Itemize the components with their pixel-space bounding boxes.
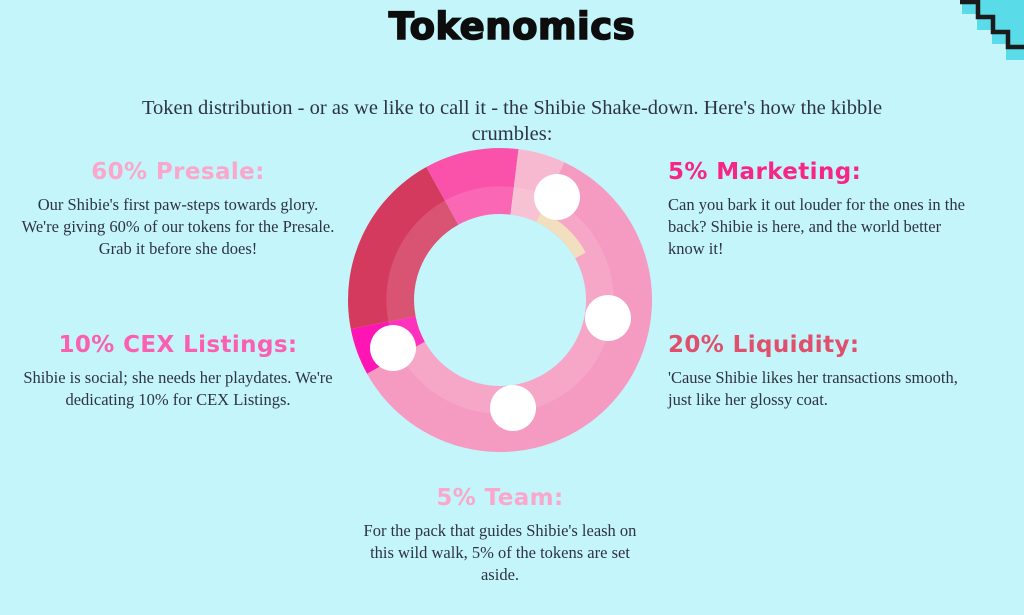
page-title: Tokenomics <box>0 8 1024 45</box>
donut-node-marker <box>370 325 416 371</box>
legend-body-cex-listings: Shibie is social; she needs her playdate… <box>18 367 338 411</box>
legend-body-liquidity: 'Cause Shibie likes her transactions smo… <box>668 367 968 411</box>
legend-item-marketing: 5% Marketing: Can you bark it out louder… <box>668 160 968 260</box>
legend-heading-liquidity: 20% Liquidity: <box>668 333 968 357</box>
donut-node-marker <box>585 295 631 341</box>
legend-item-cex-listings: 10% CEX Listings: Shibie is social; she … <box>18 333 338 411</box>
legend-body-marketing: Can you bark it out louder for the ones … <box>668 194 968 260</box>
donut-node-marker <box>534 174 580 220</box>
legend-heading-presale: 60% Presale: <box>18 160 338 184</box>
tokenomics-page: Tokenomics Token distribution - or as we… <box>0 0 1024 615</box>
legend-item-liquidity: 20% Liquidity: 'Cause Shibie likes her t… <box>668 333 968 411</box>
legend-body-presale: Our Shibie's first paw-steps towards glo… <box>18 194 338 260</box>
donut-node-marker <box>490 385 536 431</box>
legend-body-team: For the pack that guides Shibie's leash … <box>352 520 648 586</box>
tokenomics-donut-chart <box>340 140 660 460</box>
legend-heading-cex-listings: 10% CEX Listings: <box>18 333 338 357</box>
legend-heading-team: 5% Team: <box>352 486 648 510</box>
legend-item-team: 5% Team: For the pack that guides Shibie… <box>352 486 648 586</box>
legend-item-presale: 60% Presale: Our Shibie's first paw-step… <box>18 160 338 260</box>
legend-heading-marketing: 5% Marketing: <box>668 160 968 184</box>
